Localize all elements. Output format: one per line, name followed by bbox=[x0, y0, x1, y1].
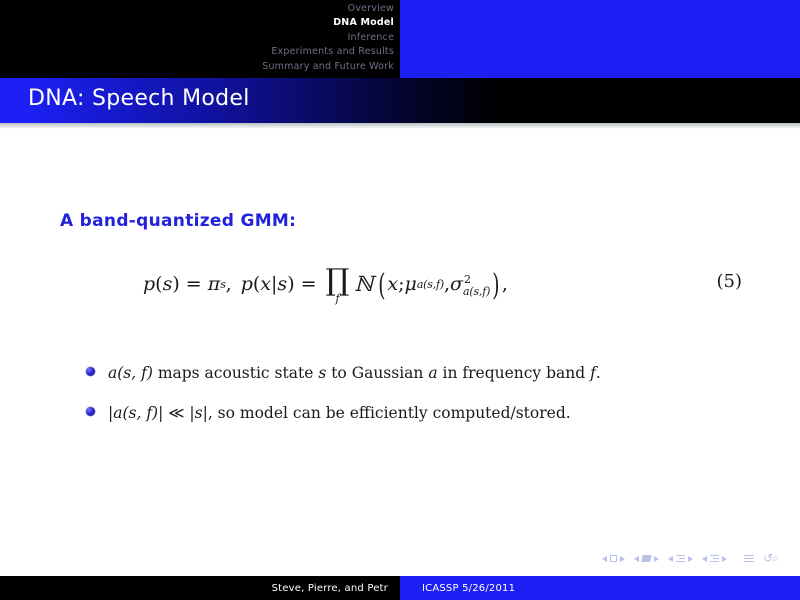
slide-square-icon[interactable] bbox=[610, 555, 617, 562]
section-navigation-group[interactable] bbox=[702, 555, 727, 563]
eq-sigma-sub: a(s,f) bbox=[463, 286, 490, 297]
section-nav-list: Overview DNA Model Inference Experiments… bbox=[0, 2, 400, 74]
bullet-text-1: a(s, f) maps acoustic state s to Gaussia… bbox=[108, 364, 601, 382]
eq-sigma-scripts: 2a(s,f) bbox=[463, 274, 490, 297]
eq-equals1: = bbox=[180, 273, 208, 295]
bullet2-text2: , so model can be efficiently computed/s… bbox=[208, 404, 571, 422]
eq-s2: s bbox=[277, 273, 287, 295]
presentation-icon[interactable] bbox=[744, 555, 754, 563]
section-icon[interactable] bbox=[710, 555, 719, 563]
list-item: |a(s, f)| ≪ |s|, so model can be efficie… bbox=[86, 401, 766, 425]
eq-trailing-comma: , bbox=[502, 273, 508, 295]
footer-authors: Steve, Pierre, and Petr bbox=[0, 576, 400, 600]
eq-big-rparen: ) bbox=[492, 268, 499, 303]
bullet1-text2: to Gaussian bbox=[326, 364, 428, 382]
bullet1-text1: maps acoustic state bbox=[153, 364, 318, 382]
frame-navigation-group[interactable] bbox=[634, 555, 659, 562]
bullet1-text4: . bbox=[596, 364, 601, 382]
eq-sigma: σ bbox=[450, 273, 463, 295]
product-symbol: ∏ bbox=[326, 269, 350, 293]
beamer-navigation-symbols[interactable]: ↺⌕ bbox=[602, 551, 778, 566]
nav-item-dna-model[interactable]: DNA Model bbox=[0, 16, 394, 30]
eq-rparen1: ) bbox=[172, 273, 179, 295]
previous-section-icon[interactable] bbox=[702, 556, 707, 562]
eq-x2: x bbox=[387, 273, 398, 295]
equation-number: (5) bbox=[717, 271, 743, 292]
eq-equals2: = bbox=[295, 273, 323, 295]
eq-s1: s bbox=[163, 273, 173, 295]
bullet2-prefix: |a(s, f)| bbox=[108, 404, 163, 422]
eq-mu-sub: a(s,f) bbox=[417, 278, 444, 291]
back-and-search-icon[interactable]: ↺⌕ bbox=[763, 551, 778, 566]
eq-mu: μ bbox=[404, 273, 416, 295]
previous-frame-icon[interactable] bbox=[634, 556, 639, 562]
next-section-icon[interactable] bbox=[722, 556, 727, 562]
slide-navigation-group[interactable] bbox=[602, 555, 625, 562]
eq-p2: p bbox=[232, 273, 253, 295]
next-frame-icon[interactable] bbox=[654, 556, 659, 562]
bullet1-var2: a bbox=[428, 364, 437, 382]
previous-subsection-icon[interactable] bbox=[668, 556, 673, 562]
eq-sigma-sup: 2 bbox=[464, 274, 471, 285]
frame-icon[interactable] bbox=[641, 555, 651, 562]
product-subscript: f bbox=[335, 293, 339, 304]
eq-pi: π bbox=[208, 273, 221, 295]
nav-item-overview[interactable]: Overview bbox=[0, 2, 394, 16]
equation-formula: p(s) = πs, p(x|s) = ∏ f ℕ ( x;μa(s,f), σ… bbox=[143, 254, 508, 314]
nav-item-experiments-and-results[interactable]: Experiments and Results bbox=[0, 45, 394, 59]
footer-venue-date: ICASSP 5/26/2011 bbox=[400, 576, 800, 600]
bullet-list: a(s, f) maps acoustic state s to Gaussia… bbox=[86, 361, 766, 441]
list-item: a(s, f) maps acoustic state s to Gaussia… bbox=[86, 361, 766, 385]
eq-x1: x bbox=[260, 273, 271, 295]
eq-p1: p bbox=[143, 273, 155, 295]
eq-rparen2: ) bbox=[287, 273, 294, 295]
bullet1-prefix: a(s, f) bbox=[108, 364, 153, 382]
slide-title-bar: DNA: Speech Model bbox=[0, 78, 800, 123]
page-title: DNA: Speech Model bbox=[28, 86, 250, 111]
subsection-navigation-group[interactable] bbox=[668, 555, 693, 563]
eq-lparen1: ( bbox=[155, 273, 162, 295]
bullet2-text1: ≪ bbox=[163, 404, 189, 422]
bullet1-text3: in frequency band bbox=[438, 364, 591, 382]
eq-cal-n: ℕ bbox=[352, 272, 375, 296]
bullet2-var1: |s| bbox=[189, 404, 207, 422]
slide-content: A band-quantized GMM: p(s) = πs, p(x|s) … bbox=[0, 129, 800, 569]
product-operator: ∏ f bbox=[326, 269, 350, 304]
previous-slide-icon[interactable] bbox=[602, 556, 607, 562]
bullet-dot-icon bbox=[86, 407, 95, 416]
eq-big-lparen: ( bbox=[378, 268, 385, 303]
bullet-text-2: |a(s, f)| ≪ |s|, so model can be efficie… bbox=[108, 404, 571, 422]
eq-lparen2: ( bbox=[253, 273, 260, 295]
header-navigation-bar: Overview DNA Model Inference Experiments… bbox=[0, 0, 800, 78]
footer-bar: Steve, Pierre, and Petr ICASSP 5/26/2011 bbox=[0, 576, 800, 600]
equation-block: p(s) = πs, p(x|s) = ∏ f ℕ ( x;μa(s,f), σ… bbox=[0, 254, 800, 324]
next-slide-icon[interactable] bbox=[620, 556, 625, 562]
nav-item-inference[interactable]: Inference bbox=[0, 31, 394, 45]
bullet-dot-icon bbox=[86, 367, 95, 376]
next-subsection-icon[interactable] bbox=[688, 556, 693, 562]
subsection-icon[interactable] bbox=[676, 555, 685, 563]
structure-heading: A band-quantized GMM: bbox=[60, 211, 296, 231]
nav-item-summary-and-future-work[interactable]: Summary and Future Work bbox=[0, 60, 394, 74]
